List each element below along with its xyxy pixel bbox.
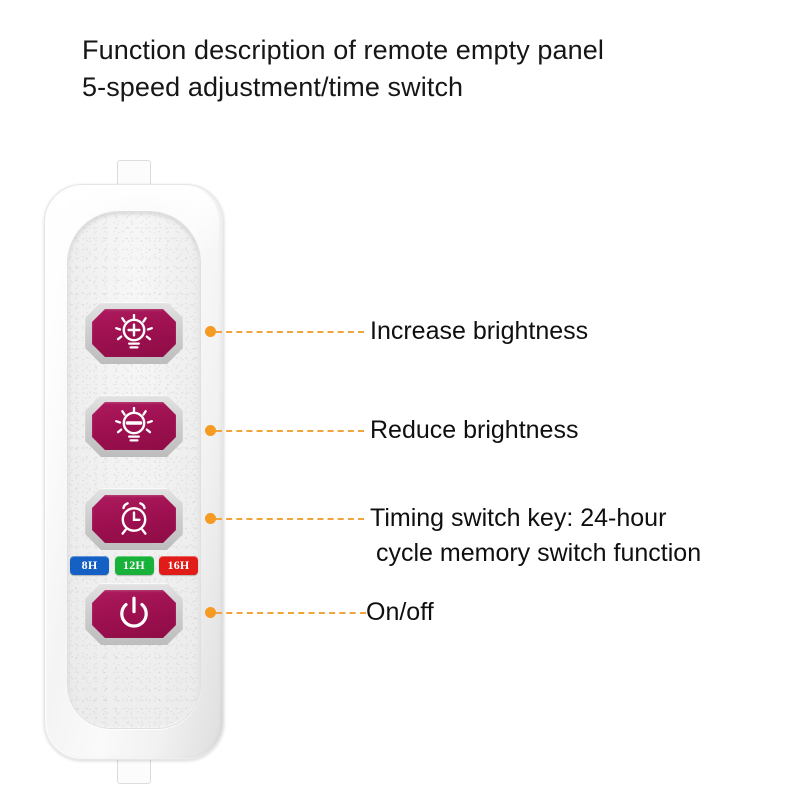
callout-anchor-dot [205, 425, 216, 436]
alarm-clock-icon [115, 500, 153, 538]
badge-12h: 12H [115, 556, 154, 575]
device-inner-panel [67, 211, 201, 729]
callout-label-increase-brightness: Increase brightness [370, 314, 588, 349]
callout-leader-line [216, 612, 366, 614]
button-reduce-brightness[interactable] [85, 395, 183, 457]
button-power[interactable] [85, 583, 183, 645]
key-cap [92, 309, 176, 357]
callout-label-onoff: On/off [366, 595, 434, 630]
key-cap [92, 402, 176, 450]
device-body [44, 184, 224, 760]
callout-anchor-dot [205, 607, 216, 618]
key-cap [92, 495, 176, 543]
callout-leader-line [216, 430, 364, 432]
key-cap [92, 590, 176, 638]
callout-label-line-2: cycle memory switch function [370, 536, 701, 571]
remote-controller-device: 8H 12H 16H [44, 184, 224, 760]
callout-label-reduce-brightness: Reduce brightness [370, 413, 578, 448]
title-line-2: 5-speed adjustment/time switch [82, 69, 742, 106]
power-icon [117, 596, 151, 632]
bulb-minus-icon [114, 407, 154, 445]
timer-badge-row: 8H 12H 16H [70, 556, 198, 575]
badge-16h: 16H [159, 556, 198, 575]
button-timer[interactable] [85, 488, 183, 550]
badge-8h: 8H [70, 556, 109, 575]
callout-anchor-dot [205, 326, 216, 337]
callout-label-line-1: Timing switch key: 24-hour [370, 504, 666, 532]
callout-label-timing-switch: Timing switch key: 24-hour cycle memory … [370, 501, 701, 571]
callout-leader-line [216, 518, 364, 520]
button-increase-brightness[interactable] [85, 302, 183, 364]
page-title: Function description of remote empty pan… [82, 32, 742, 106]
title-line-1: Function description of remote empty pan… [82, 32, 742, 69]
callout-leader-line [216, 331, 364, 333]
callout-anchor-dot [205, 513, 216, 524]
bulb-plus-icon [114, 314, 154, 352]
